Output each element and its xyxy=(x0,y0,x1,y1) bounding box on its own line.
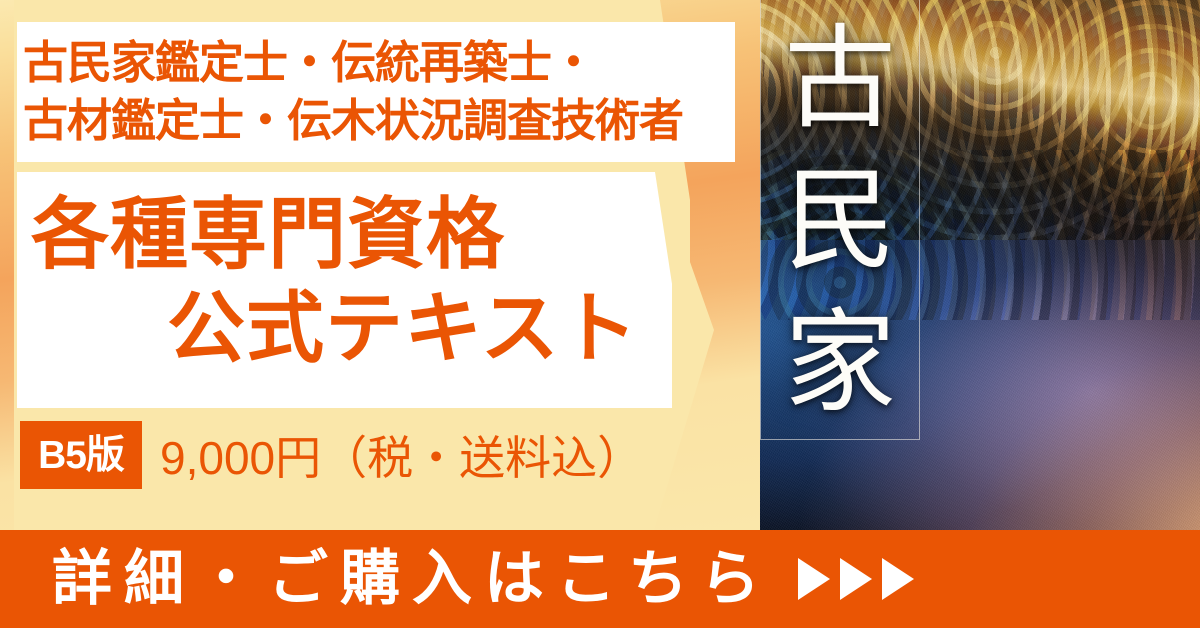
cta-label: 詳細・ご購入はこちら xyxy=(52,549,772,609)
triangle-right-icon xyxy=(798,558,830,600)
promo-banner: 古 民 家 伝統構法 古民家活用のための調査と再生の 古民家鑑定士・伝統再築士・… xyxy=(0,0,1200,628)
headline-line-2: 公式テキスト xyxy=(167,280,639,376)
cta-arrow-group xyxy=(798,558,914,600)
price-text: 9,000円（税・送料込） xyxy=(160,421,643,489)
headline-text: 各種専門資格 公式テキスト xyxy=(17,172,677,408)
qualifications-line-2: 古材鑑定士・伝木状況調査技術者 xyxy=(23,92,733,150)
cta-bar[interactable]: 詳細・ご購入はこちら xyxy=(0,530,1200,628)
headline-line-1: 各種専門資格 xyxy=(31,186,505,282)
qualifications-line-1: 古民家鑑定士・伝統再築士・ xyxy=(23,34,733,92)
qualifications-text: 古民家鑑定士・伝統再築士・ 古材鑑定士・伝木状況調査技術者 xyxy=(17,22,733,162)
triangle-right-icon xyxy=(882,558,914,600)
status-badge-b5: B5版 xyxy=(20,421,142,489)
cover-title-vertical: 古 民 家 xyxy=(770,8,910,434)
triangle-right-icon xyxy=(840,558,872,600)
